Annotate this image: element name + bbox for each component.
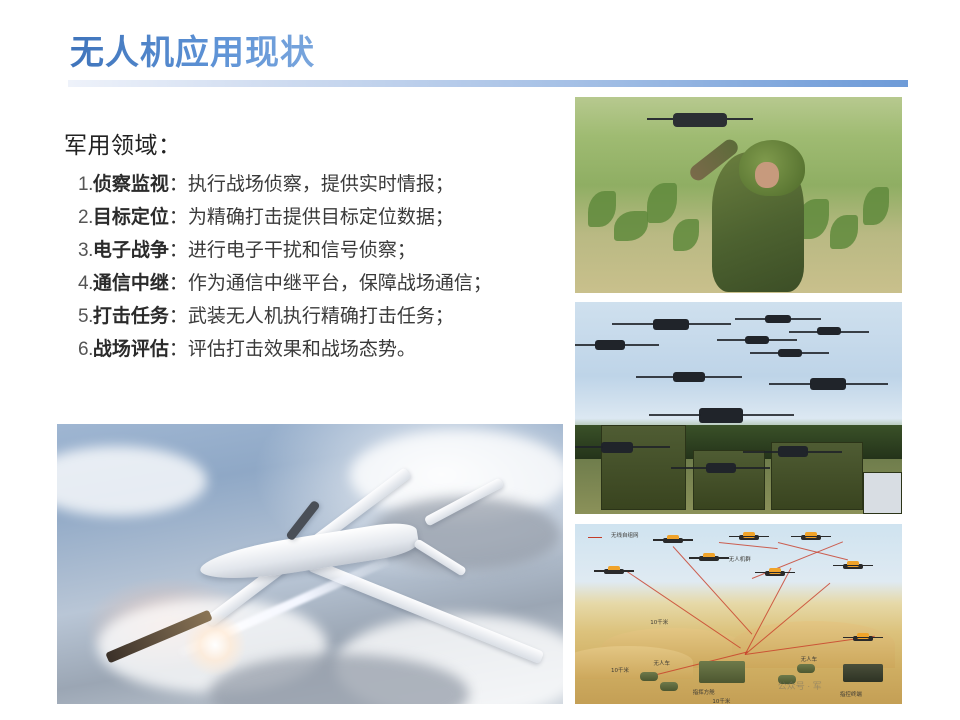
quadcopter-drone-icon — [673, 113, 727, 127]
list-item-description: 武装无人机执行精确打击任务； — [188, 306, 454, 327]
control-terminal-vehicle — [843, 664, 883, 682]
drone-aircraft — [778, 446, 808, 457]
list-item-separator: ： — [169, 174, 188, 195]
label-distance: 10千米 — [712, 697, 730, 704]
drone-aircraft — [817, 327, 841, 335]
photo-soldier-launching-drone — [575, 97, 902, 293]
list-item-description: 为精确打击提供目标定位数据； — [188, 207, 454, 228]
military-vehicle — [693, 450, 765, 509]
list-item-keyword: 通信中继 — [93, 273, 169, 294]
list-item-keyword: 打击任务 — [93, 306, 169, 327]
list-item-description: 进行电子干扰和信号侦察； — [188, 240, 416, 261]
drone-aircraft — [706, 463, 736, 473]
unmanned-ground-vehicle — [797, 664, 815, 673]
watermark-text: 公众号 · 军 — [778, 679, 822, 692]
list-item-number: 2. — [78, 207, 93, 228]
soldier-face — [755, 162, 779, 188]
section-heading: 军用领域： — [64, 126, 564, 160]
drone-aircraft — [765, 315, 791, 323]
drone-node — [604, 569, 624, 574]
drone-aircraft — [653, 319, 689, 330]
drone-aircraft — [601, 442, 633, 453]
list-item-keyword: 目标定位 — [93, 207, 169, 228]
slide-root: 无人机应用现状 军用领域： 1.侦察监视：执行战场侦察，提供实时情报； 2.目标… — [0, 0, 960, 720]
diagram-swarm-mesh-network: 无线自组网 无人机群 无人车 无人车 指挥方舱 指控终端 10千米 10千米 1… — [575, 524, 902, 704]
photo-drone-swarm-military — [575, 302, 902, 514]
list-item-number: 6. — [78, 339, 93, 360]
content-text-block: 军用领域： 1.侦察监视：执行战场侦察，提供实时情报； 2.目标定位：为精确打击… — [64, 126, 564, 366]
list-item-keyword: 侦察监视 — [93, 174, 169, 195]
legend-line-swatch — [588, 537, 602, 539]
list-item-keyword: 电子战争 — [93, 240, 169, 261]
title-underline-rule — [68, 80, 908, 87]
drone-node — [663, 538, 683, 543]
label-distance: 10千米 — [650, 618, 668, 626]
label-control-terminal: 指控终端 — [840, 690, 862, 698]
photo-armed-predator-drone — [57, 424, 563, 704]
list-item-keyword: 战场评估 — [93, 339, 169, 360]
label-drone-swarm: 无人机群 — [729, 555, 751, 563]
dune-shape — [575, 646, 693, 678]
drone-node — [739, 535, 759, 540]
drone-node — [765, 571, 785, 576]
military-applications-list: 1.侦察监视：执行战场侦察，提供实时情报； 2.目标定位：为精确打击提供目标定位… — [64, 168, 564, 366]
list-item-description: 评估打击效果和战场态势。 — [188, 339, 416, 360]
list-item-number: 3. — [78, 240, 93, 261]
command-vehicle — [699, 661, 745, 683]
list-item-separator: ： — [169, 306, 188, 327]
drone-aircraft — [745, 336, 769, 344]
drone-aircraft — [778, 349, 802, 357]
drone-node — [853, 636, 873, 641]
unmanned-ground-vehicle — [640, 672, 658, 681]
unmanned-ground-vehicle — [660, 682, 678, 691]
list-item-separator: ： — [169, 339, 188, 360]
drone-node — [843, 564, 863, 569]
label-ugv-right: 无人车 — [801, 655, 818, 663]
list-item-separator: ： — [169, 207, 188, 228]
list-item: 1.侦察监视：执行战场侦察，提供实时情报； — [64, 168, 564, 201]
drone-aircraft — [699, 408, 743, 423]
label-command-cabin: 指挥方舱 — [693, 688, 715, 696]
list-item-separator: ： — [169, 273, 188, 294]
list-item-number: 5. — [78, 306, 93, 327]
support-shelter — [863, 472, 902, 514]
list-item-description: 执行战场侦察，提供实时情报； — [188, 174, 454, 195]
page-title: 无人机应用现状 — [70, 25, 315, 74]
drone-node — [801, 535, 821, 540]
list-item-description: 作为通信中继平台，保障战场通信； — [188, 273, 492, 294]
list-item-separator: ： — [169, 240, 188, 261]
drone-aircraft — [595, 340, 625, 350]
list-item: 5.打击任务：武装无人机执行精确打击任务； — [64, 300, 564, 333]
list-item: 3.电子战争：进行电子干扰和信号侦察； — [64, 234, 564, 267]
drone-node — [699, 556, 719, 561]
label-ugv-left: 无人车 — [653, 659, 670, 667]
list-item: 6.战场评估：评估打击效果和战场态势。 — [64, 333, 564, 366]
list-item: 2.目标定位：为精确打击提供目标定位数据； — [64, 201, 564, 234]
label-distance: 10千米 — [611, 666, 629, 674]
list-item: 4.通信中继：作为通信中继平台，保障战场通信； — [64, 267, 564, 300]
legend-label: 无线自组网 — [611, 531, 639, 539]
list-item-number: 4. — [78, 273, 93, 294]
drone-aircraft — [810, 378, 846, 390]
drone-aircraft — [673, 372, 705, 382]
list-item-number: 1. — [78, 174, 93, 195]
